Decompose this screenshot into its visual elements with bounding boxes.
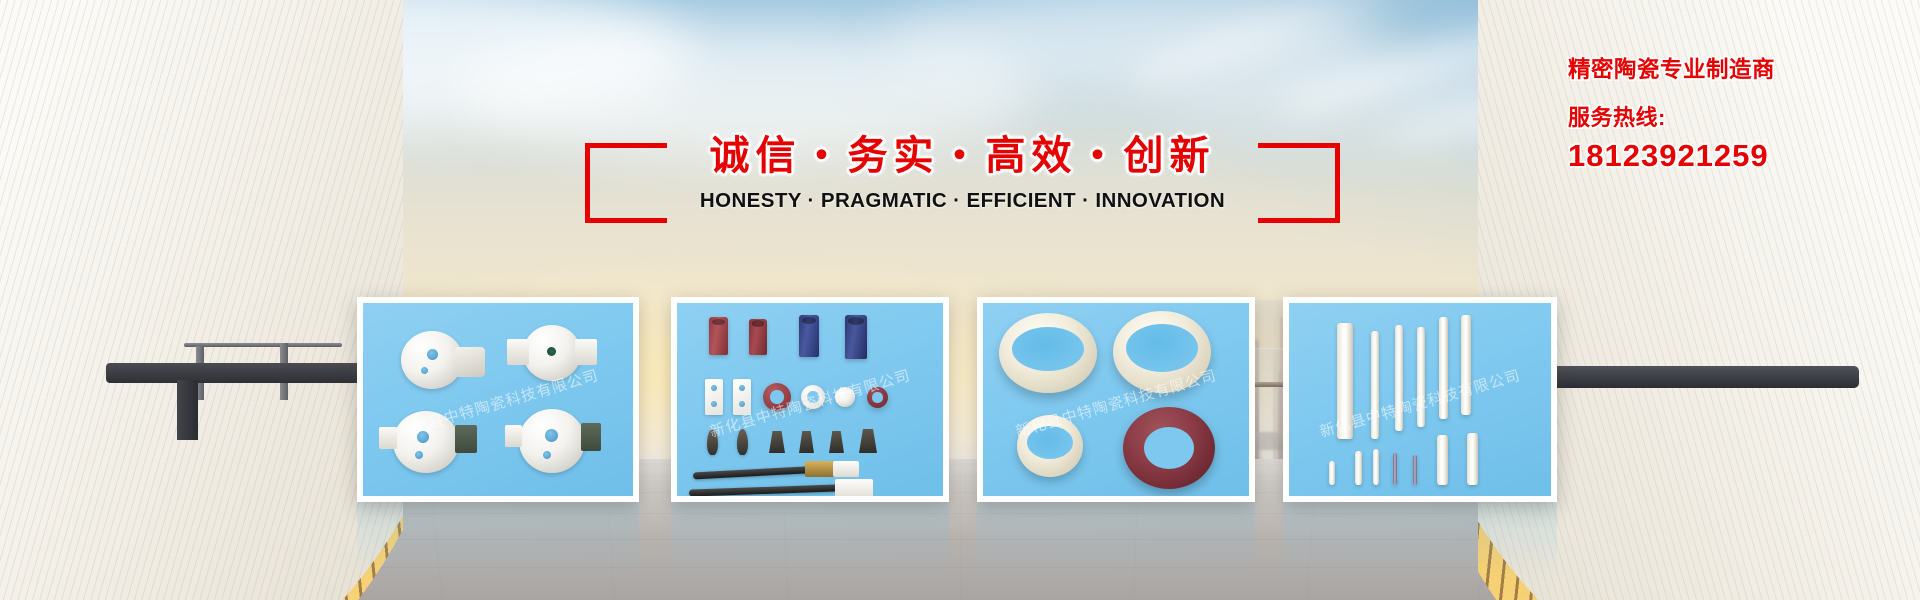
ceramic-rod-5	[1439, 317, 1448, 419]
lamp-holder-2-tab-right	[575, 339, 597, 365]
ceramic-ring-large-2	[1113, 311, 1211, 393]
lamp-holder-1-body	[401, 331, 463, 389]
cable-assembly-2	[689, 484, 839, 496]
left-railing-bar	[184, 343, 341, 347]
cone-contact-2	[799, 431, 814, 453]
product-panel-4-image: 新化县中特陶瓷科技有限公司	[1289, 303, 1551, 496]
panel-3-reflection	[977, 502, 1255, 580]
blade-contact-1	[707, 429, 718, 455]
lamp-holder-1-base	[455, 347, 485, 377]
product-panel-1-image: 新化县中特陶瓷科技有限公司	[363, 303, 633, 496]
slogan-block: 诚信・务实・高效・创新 HONESTY · PRAGMATIC · EFFICI…	[585, 143, 1340, 228]
product-panel-2-image: 新化县中特陶瓷科技有限公司	[677, 303, 943, 496]
lamp-holder-3-contact	[455, 425, 477, 453]
lamp-holder-4-tab	[505, 425, 522, 447]
ceramic-rod-2	[1371, 331, 1379, 439]
hotline-number[interactable]: 18123921259	[1568, 138, 1898, 174]
lamp-holder-4-contact	[581, 423, 601, 451]
ceramic-rod-6	[1461, 315, 1471, 415]
ceramic-button	[835, 387, 855, 407]
blade-contact-2	[737, 429, 748, 455]
left-bench-leg	[177, 380, 198, 440]
ceramic-rod-4	[1417, 327, 1425, 427]
hotline-label: 服务热线:	[1568, 100, 1898, 132]
lamp-holder-3-body	[393, 411, 459, 473]
ceramic-ring-small	[1017, 415, 1083, 477]
lamp-holder-2-tab-left	[507, 339, 529, 365]
ceramic-tube-short-2	[1467, 433, 1478, 485]
tube-blue-2	[845, 315, 867, 359]
panel-4-reflection	[1283, 502, 1557, 580]
ceramic-pin-2	[1413, 455, 1417, 485]
tube-blue-1	[799, 315, 819, 357]
ring-maroon-small	[763, 383, 791, 411]
ceramic-pin-1	[1393, 453, 1397, 485]
cone-contact-1	[769, 431, 785, 453]
ceramic-rod-thick	[1337, 323, 1353, 439]
left-bench	[106, 363, 384, 383]
left-canopy-curve-lines	[0, 0, 403, 600]
banner-stage: 诚信・务实・高效・创新 HONESTY · PRAGMATIC · EFFICI…	[0, 0, 1920, 600]
slogan-english: HONESTY · PRAGMATIC · EFFICIENT · INNOVA…	[585, 189, 1340, 213]
lamp-holder-2-body	[523, 325, 581, 381]
ceramic-ring-maroon	[1123, 407, 1215, 489]
ceramic-rod-short-2	[1373, 449, 1379, 485]
cone-contact-3	[829, 431, 844, 453]
ceramic-rod-short-3	[1329, 461, 1335, 485]
insulator-plate-1	[705, 379, 723, 415]
lamp-holder-4-body	[519, 409, 585, 473]
left-canopy-structure	[0, 0, 403, 600]
cone-contact-4	[859, 429, 877, 453]
contact-block: 精密陶瓷专业制造商 服务热线: 18123921259	[1568, 52, 1898, 174]
panel-1-reflection	[357, 502, 639, 580]
panel-2-reflection	[671, 502, 949, 580]
cable-1-terminal	[833, 461, 859, 477]
product-panel-1[interactable]: 新化县中特陶瓷科技有限公司	[357, 297, 639, 502]
slogan-chinese: 诚信・务实・高效・创新	[585, 123, 1340, 181]
insulator-plate-2	[733, 379, 751, 415]
ceramic-tube-short-1	[1437, 435, 1448, 485]
product-panel-row: 新化县中特陶瓷科技有限公司	[357, 297, 1557, 502]
tube-red-2	[749, 319, 767, 355]
ring-maroon-tiny	[867, 387, 888, 408]
lamp-holder-3-tab	[379, 427, 397, 449]
ring-white-small	[801, 385, 825, 409]
ceramic-rod-3	[1395, 325, 1403, 431]
product-panel-4[interactable]: 新化县中特陶瓷科技有限公司	[1283, 297, 1557, 502]
ceramic-rod-short-1	[1355, 451, 1362, 485]
cable-2-connector	[835, 479, 873, 496]
cable-assembly-1	[693, 466, 823, 480]
tube-red-1	[709, 317, 728, 355]
company-tagline: 精密陶瓷专业制造商	[1568, 52, 1898, 84]
ceramic-ring-large-1	[999, 313, 1097, 393]
product-panel-3-image: 新化县中特陶瓷科技有限公司	[983, 303, 1249, 496]
product-panel-3[interactable]: 新化县中特陶瓷科技有限公司	[977, 297, 1255, 502]
product-panel-2[interactable]: 新化县中特陶瓷科技有限公司	[671, 297, 949, 502]
